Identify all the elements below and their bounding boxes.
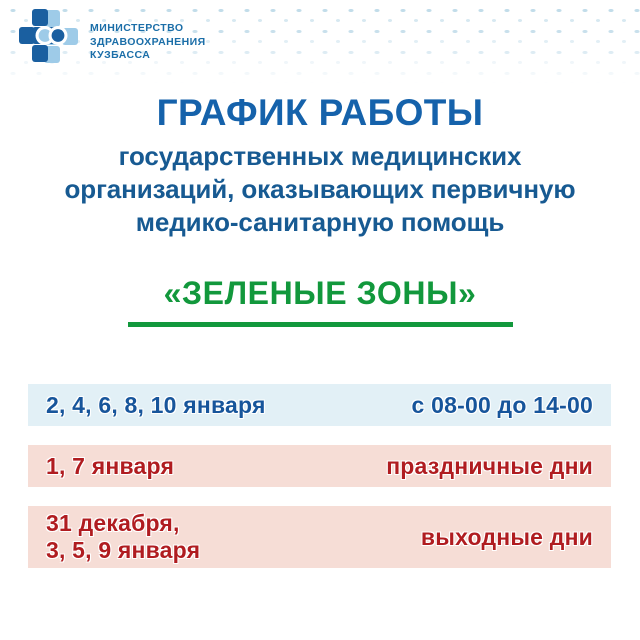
row-value: с 08-00 до 14-00 [412, 392, 593, 419]
schedule-poster: МИНИСТЕРСТВО ЗДРАВООХРАНЕНИЯ КУЗБАССА ГР… [0, 0, 640, 640]
row-dates-line-1: 31 декабря, [46, 510, 200, 537]
row-dates-line-2: 3, 5, 9 января [46, 537, 200, 564]
double-cross-medical-logo-icon [18, 8, 80, 68]
table-row: 31 декабря, 3, 5, 9 января выходные дни [28, 506, 611, 568]
subtitle-line-3: медико-санитарную помощь [0, 206, 640, 239]
subtitle-line-2: организаций, оказывающих первичную [0, 173, 640, 206]
ministry-line-1: МИНИСТЕРСТВО [90, 22, 206, 35]
page-subtitle: государственных медицинских организаций,… [0, 140, 640, 239]
row-dates: 31 декабря, 3, 5, 9 января [46, 510, 200, 564]
row-dates: 2, 4, 6, 8, 10 января [46, 392, 266, 419]
ministry-line-2: ЗДРАВООХРАНЕНИЯ [90, 36, 206, 49]
ministry-name: МИНИСТЕРСТВО ЗДРАВООХРАНЕНИЯ КУЗБАССА [90, 14, 206, 62]
table-row: 2, 4, 6, 8, 10 января с 08-00 до 14-00 [28, 384, 611, 426]
subtitle-line-1: государственных медицинских [0, 140, 640, 173]
row-dates: 1, 7 января [46, 453, 174, 480]
schedule-table: 2, 4, 6, 8, 10 января с 08-00 до 14-00 1… [28, 384, 611, 587]
ministry-line-3: КУЗБАССА [90, 49, 206, 62]
table-row: 1, 7 января праздничные дни [28, 445, 611, 487]
zone-heading-underline [128, 322, 513, 327]
zone-heading: «ЗЕЛЕНЫЕ ЗОНЫ» [0, 274, 640, 312]
page-title: ГРАФИК РАБОТЫ [0, 91, 640, 135]
row-value: выходные дни [421, 524, 593, 551]
ministry-logo-block: МИНИСТЕРСТВО ЗДРАВООХРАНЕНИЯ КУЗБАССА [18, 8, 206, 68]
row-value: праздничные дни [386, 453, 593, 480]
